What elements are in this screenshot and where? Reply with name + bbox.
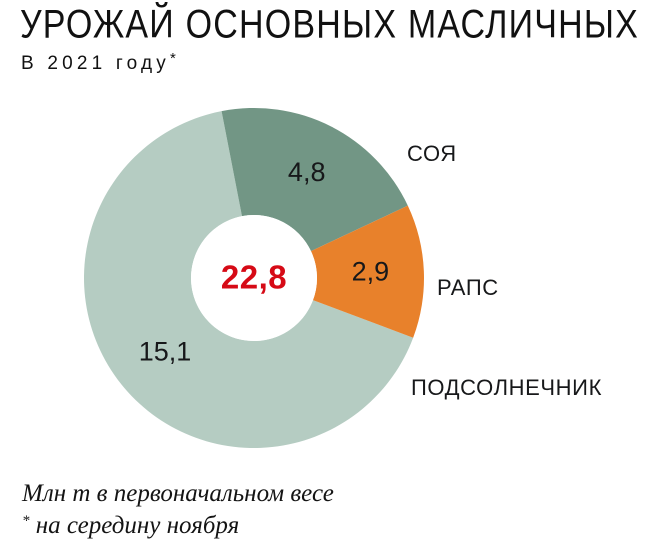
slice-value-soy: 4,8 xyxy=(288,157,326,187)
footnote-unit: Млн т в первоначальном весе xyxy=(22,478,622,510)
category-label-rapeseed: РАПС xyxy=(437,275,499,301)
page-subtitle-text: В 2021 году xyxy=(21,53,170,74)
page-subtitle: В 2021 году* xyxy=(21,50,176,75)
page-title: УРОЖАЙ ОСНОВНЫХ МАСЛИЧНЫХ xyxy=(20,2,639,48)
category-label-sunflower: ПОДСОЛНЕЧНИК xyxy=(411,375,602,401)
subtitle-footnote-marker: * xyxy=(170,50,176,67)
donut-chart-svg: 4,8 2,9 15,1 22,8 xyxy=(0,85,645,465)
infographic-page: УРОЖАЙ ОСНОВНЫХ МАСЛИЧНЫХ В 2021 году* 4… xyxy=(0,0,645,553)
footnotes: Млн т в первоначальном весе * на середин… xyxy=(22,478,622,542)
donut-center-total: 22,8 xyxy=(221,259,287,296)
slice-value-rapeseed: 2,9 xyxy=(352,256,390,286)
footnote-marker: * xyxy=(22,513,30,529)
footnote-date-text: на середину ноября xyxy=(30,512,240,539)
slice-value-sunflower: 15,1 xyxy=(139,336,192,366)
donut-chart: 4,8 2,9 15,1 22,8 СОЯ РАПС ПОДСОЛНЕЧНИК xyxy=(0,85,645,465)
category-label-soy: СОЯ xyxy=(407,141,457,167)
footnote-date: * на середину ноября xyxy=(22,510,622,542)
